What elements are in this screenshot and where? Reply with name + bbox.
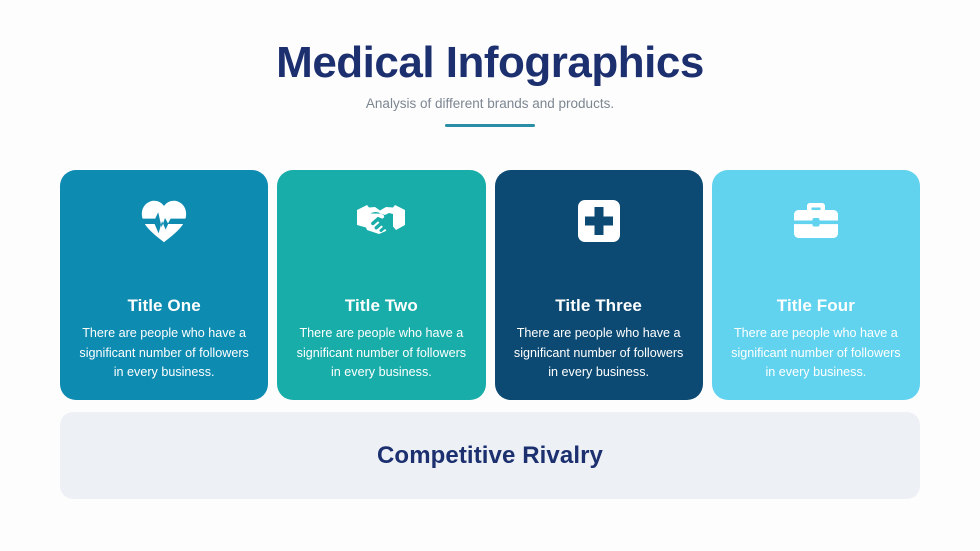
handshake-icon <box>355 190 407 252</box>
infographic-slide: Medical Infographics Analysis of differe… <box>0 0 980 551</box>
card-title-label: Title One <box>127 296 200 316</box>
footer-label: Competitive Rivalry <box>377 442 603 470</box>
title-divider <box>445 124 535 127</box>
page-subtitle: Analysis of different brands and product… <box>0 96 980 111</box>
slide-header: Medical Infographics Analysis of differe… <box>0 40 980 127</box>
heart-pulse-icon <box>141 190 187 252</box>
card-body-text: There are people who have a significant … <box>514 324 684 383</box>
card-body-text: There are people who have a significant … <box>731 324 901 383</box>
page-title: Medical Infographics <box>0 40 980 86</box>
card-title-label: Title Two <box>345 296 418 316</box>
card-title-three[interactable]: Title Three There are people who have a … <box>495 170 703 400</box>
title-divider-wrapper <box>0 124 980 127</box>
card-title-label: Title Three <box>555 296 642 316</box>
card-title-one[interactable]: Title One There are people who have a si… <box>60 170 268 400</box>
medical-cross-icon <box>577 190 621 252</box>
briefcase-icon <box>792 190 840 252</box>
card-row: Title One There are people who have a si… <box>60 170 920 400</box>
card-title-four[interactable]: Title Four There are people who have a s… <box>712 170 920 400</box>
card-title-two[interactable]: Title Two There are people who have a si… <box>277 170 485 400</box>
card-body-text: There are people who have a significant … <box>79 324 249 383</box>
card-title-label: Title Four <box>777 296 855 316</box>
footer-banner[interactable]: Competitive Rivalry <box>60 412 920 499</box>
card-body-text: There are people who have a significant … <box>296 324 466 383</box>
